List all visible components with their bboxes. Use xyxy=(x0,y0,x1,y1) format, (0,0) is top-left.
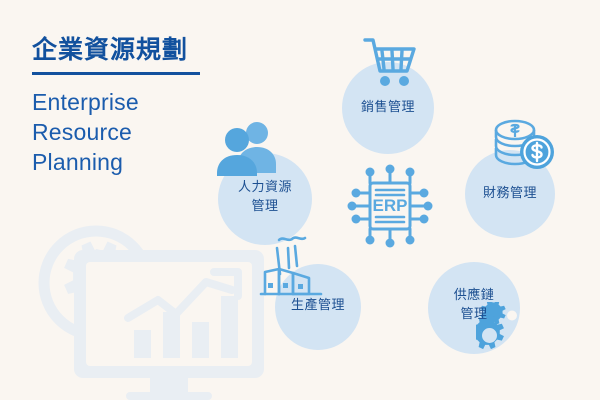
microchip-icon[interactable]: ERP xyxy=(338,163,442,249)
monitor-bar-chart-icon xyxy=(74,250,264,400)
node-production[interactable]: 生產管理 xyxy=(275,264,363,350)
node-human-resources[interactable]: 人力資源 管理 xyxy=(218,153,318,245)
node-production-label: 生產管理 xyxy=(275,296,361,315)
page-title-en-line1: Enterprise xyxy=(32,87,262,117)
gear-refresh-icon xyxy=(44,231,148,335)
title-underline xyxy=(32,72,200,75)
node-supply-chain-label: 供應鏈 管理 xyxy=(428,286,520,324)
chip-label: ERP xyxy=(373,196,408,215)
erp-infographic: 企業資源規劃 Enterprise Resource Planning 銷售管理 xyxy=(0,0,600,400)
node-sales[interactable]: 銷售管理 xyxy=(342,62,434,154)
gear-refresh-gear xyxy=(64,241,134,311)
node-sales-label: 銷售管理 xyxy=(342,98,434,117)
node-finance-label: 財務管理 xyxy=(465,184,555,203)
factory-icon xyxy=(259,236,325,296)
node-finance[interactable]: 財務管理 xyxy=(465,150,557,238)
page-title-zh: 企業資源規劃 xyxy=(32,36,262,65)
users-icon xyxy=(217,118,279,176)
shopping-cart-icon xyxy=(362,35,420,91)
coins-icon xyxy=(493,118,557,178)
node-supply-chain[interactable]: 供應鏈 管理 xyxy=(428,262,528,362)
node-human-resources-label: 人力資源 管理 xyxy=(218,178,312,216)
